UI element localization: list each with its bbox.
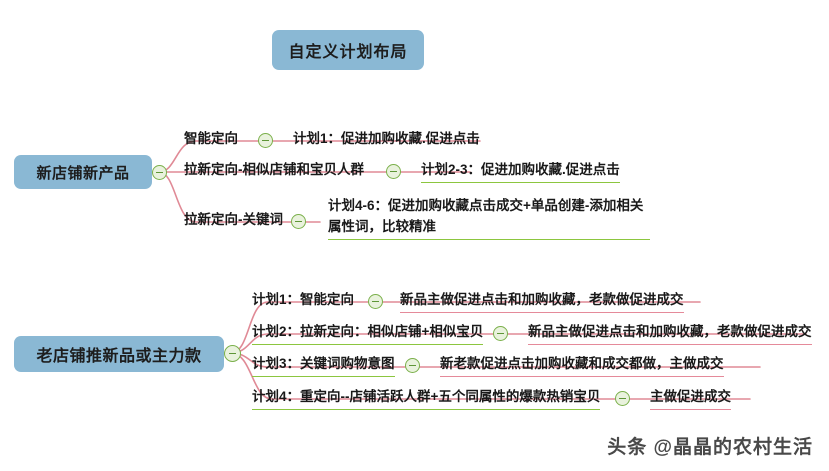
collapse-minus-icon[interactable] bbox=[291, 214, 306, 229]
leaf-detail-plan-2: 新品主做促进点击和加购收藏，老款做促进成交 bbox=[528, 322, 812, 345]
root-title-label: 自定义计划布局 bbox=[288, 38, 407, 62]
watermark: 头条 @晶晶的农村生活 bbox=[607, 432, 813, 459]
collapse-minus-icon[interactable] bbox=[224, 345, 241, 362]
collapse-minus-icon[interactable] bbox=[386, 164, 401, 179]
mindmap-canvas: 自定义计划布局 新店铺新产品 智能定向 计划1：促进加购收藏.促进点击 拉新定向… bbox=[0, 0, 829, 471]
collapse-minus-icon[interactable] bbox=[405, 358, 420, 373]
branch-node-new-shop[interactable]: 新店铺新产品 bbox=[14, 155, 152, 189]
leaf-detail-new-traffic-keyword: 计划4-6：促进加购收藏点击成交+单品创建-添加相关属性词，比较精准 bbox=[328, 195, 650, 240]
leaf-detail-plan-3: 新老款促进点击加购收藏和成交都做，主做成交 bbox=[440, 354, 724, 377]
leaf-detail-smart-targeting: 计划1：促进加购收藏.促进点击 bbox=[293, 129, 480, 149]
leaf-label-new-traffic-similar: 拉新定向-相似店铺和宝贝人群 bbox=[184, 160, 364, 180]
mindmap-root-title[interactable]: 自定义计划布局 bbox=[272, 30, 424, 70]
branch-node-old-shop-label: 老店铺推新品或主力款 bbox=[36, 342, 201, 366]
collapse-minus-icon[interactable] bbox=[152, 165, 167, 180]
leaf-label-smart-targeting: 智能定向 bbox=[184, 129, 238, 149]
leaf-label-plan-4: 计划4：重定向--店铺活跃人群+五个同属性的爆款热销宝贝 bbox=[252, 387, 600, 410]
leaf-detail-new-traffic-similar: 计划2-3：促进加购收藏.促进点击 bbox=[421, 160, 620, 183]
collapse-minus-icon[interactable] bbox=[258, 133, 273, 148]
leaf-label-plan-2: 计划2：拉新定向：相似店铺+相似宝贝 bbox=[252, 322, 483, 345]
collapse-minus-icon[interactable] bbox=[615, 391, 630, 406]
collapse-minus-icon[interactable] bbox=[368, 294, 383, 309]
branch-node-new-shop-label: 新店铺新产品 bbox=[36, 162, 129, 183]
leaf-detail-plan-4: 主做促进成交 bbox=[650, 387, 731, 410]
collapse-minus-icon[interactable] bbox=[493, 326, 508, 341]
leaf-label-new-traffic-keyword: 拉新定向-关键词 bbox=[184, 210, 283, 230]
leaf-label-plan-3: 计划3：关键词购物意图 bbox=[252, 354, 395, 377]
leaf-label-plan-1: 计划1：智能定向 bbox=[252, 290, 354, 310]
branch-node-old-shop[interactable]: 老店铺推新品或主力款 bbox=[14, 336, 224, 372]
leaf-detail-plan-1: 新品主做促进点击和加购收藏，老款做促进成交 bbox=[400, 290, 684, 313]
